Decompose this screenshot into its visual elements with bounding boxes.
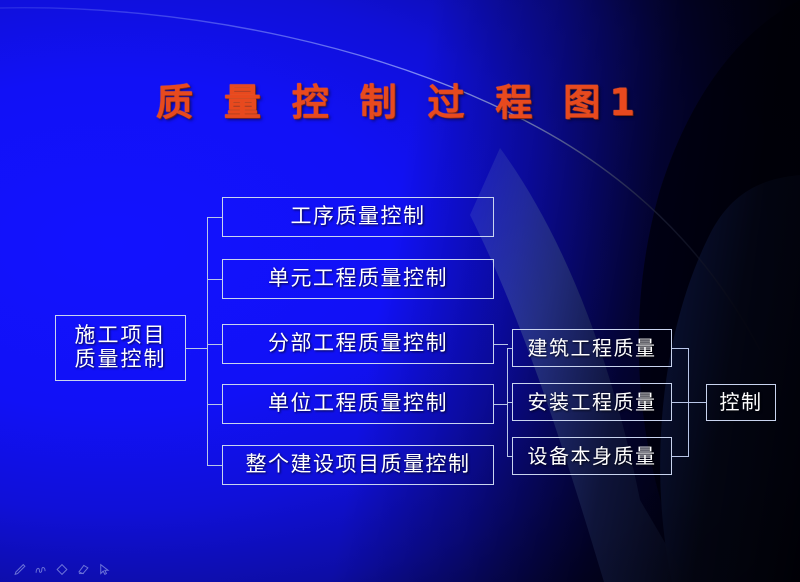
node-level1-3-label: 分部工程质量控制 (268, 332, 448, 356)
node-level1-2[interactable]: 单元工程质量控制 (222, 259, 494, 299)
node-level1-5[interactable]: 整个建设项目质量控制 (222, 445, 494, 485)
pen-icon[interactable] (13, 563, 27, 576)
node-root-line1: 施工项目 (75, 324, 167, 348)
connector-level1-branch-1 (207, 217, 223, 218)
scribble-icon[interactable] (34, 563, 48, 576)
connector-level1-branch-4 (207, 404, 223, 405)
node-level1-3[interactable]: 分部工程质量控制 (222, 324, 494, 364)
eraser-icon[interactable] (76, 563, 90, 576)
slide-canvas: 质 量 控 制 过 程 图1 施工项目 质量控制 工序质量控制 单元工程质量控制… (0, 0, 800, 582)
connector-level3-stub-3 (672, 456, 689, 457)
node-level2-2-label: 安装工程质量 (528, 391, 657, 413)
node-level1-4[interactable]: 单位工程质量控制 (222, 384, 494, 424)
node-level1-4-label: 单位工程质量控制 (268, 392, 448, 416)
node-level1-1[interactable]: 工序质量控制 (222, 197, 494, 237)
connector-level1-branch-2 (207, 279, 223, 280)
node-root-line2: 质量控制 (75, 348, 167, 372)
connector-level3-join (672, 402, 706, 403)
node-level2-1-label: 建筑工程质量 (528, 337, 657, 359)
node-level2-3[interactable]: 设备本身质量 (512, 437, 672, 475)
connector-level1-trunk (207, 217, 208, 465)
annotation-toolbar[interactable] (13, 563, 111, 576)
polygon-icon[interactable] (55, 563, 69, 576)
node-level3-control[interactable]: 控制 (706, 384, 776, 421)
node-level1-1-label: 工序质量控制 (291, 205, 426, 229)
node-level3-control-label: 控制 (720, 391, 763, 413)
connector-root-stub (186, 348, 208, 349)
node-level1-5-label: 整个建设项目质量控制 (246, 453, 471, 477)
node-root[interactable]: 施工项目 质量控制 (55, 315, 186, 381)
pointer-icon[interactable] (97, 563, 111, 576)
node-level2-3-label: 设备本身质量 (528, 445, 657, 467)
connector-level1-branch-5 (207, 465, 223, 466)
node-level2-2[interactable]: 安装工程质量 (512, 383, 672, 421)
node-level2-1[interactable]: 建筑工程质量 (512, 329, 672, 367)
page-title: 质 量 控 制 过 程 图1 (0, 72, 800, 126)
node-level1-2-label: 单元工程质量控制 (268, 267, 448, 291)
connector-level2-feed-bottom (493, 404, 508, 405)
connector-level1-branch-3 (207, 344, 223, 345)
connector-level3-stub-1 (672, 348, 689, 349)
connector-level2-feed-top (493, 344, 508, 345)
